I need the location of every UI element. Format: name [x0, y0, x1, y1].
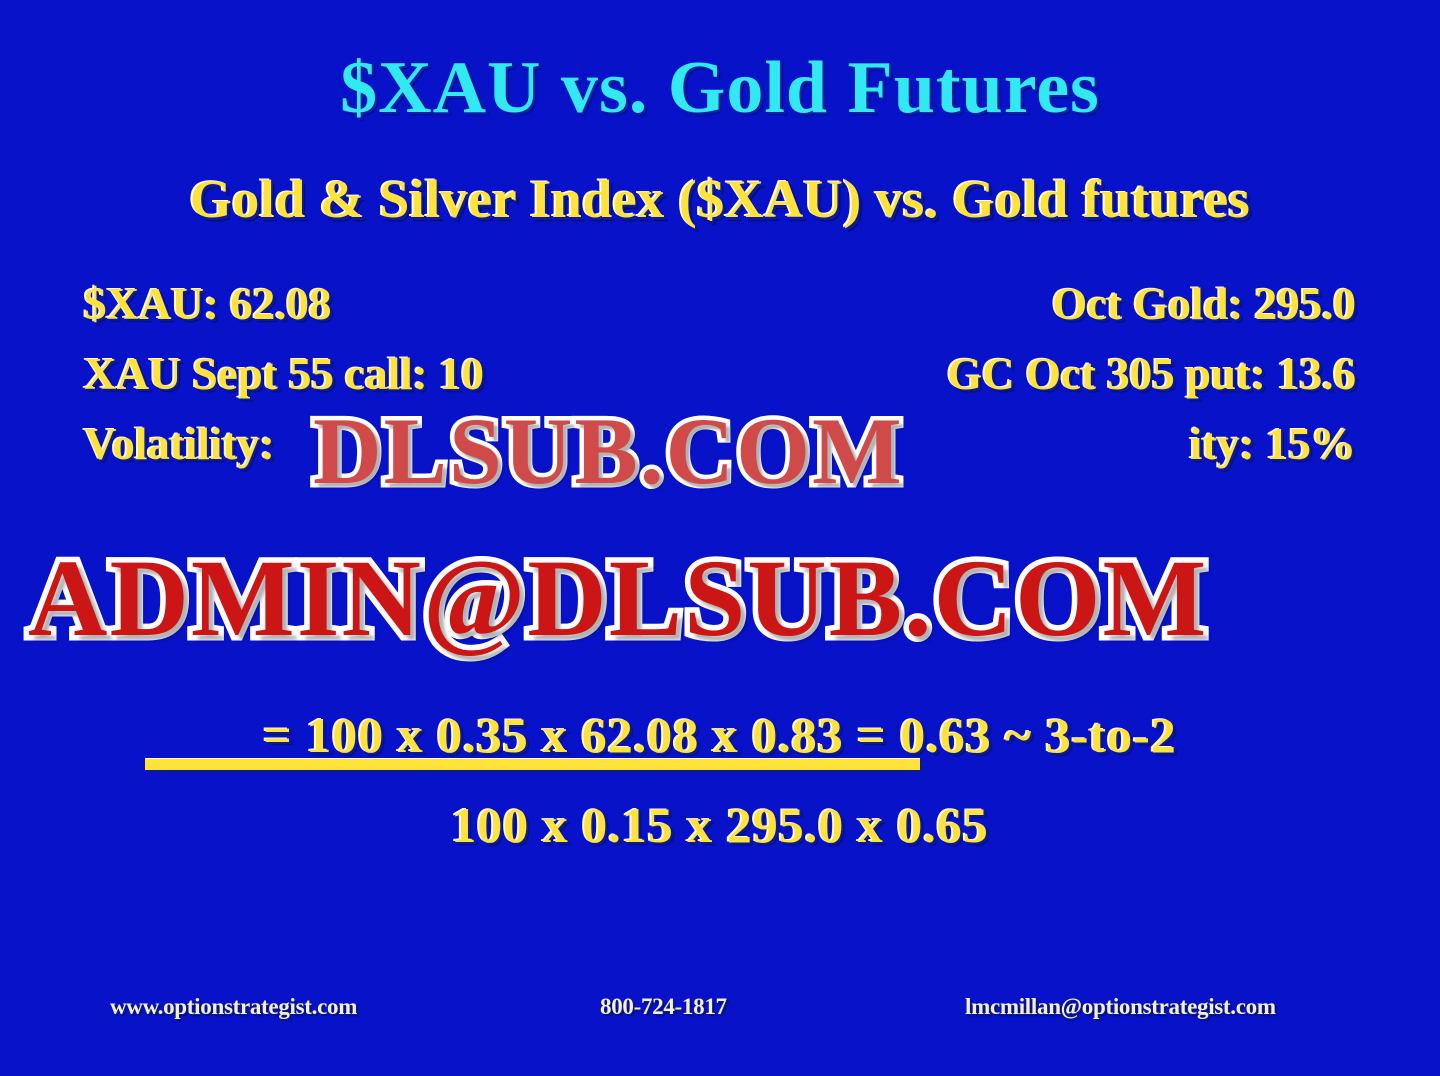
- data-row: $XAU: 62.08 Oct Gold: 295.0: [84, 278, 1356, 348]
- gold-price-label: Oct Gold: 295.0: [1052, 278, 1356, 330]
- footer-email[interactable]: lmcmillan@optionstrategist.com: [965, 994, 1276, 1020]
- xau-volatility-label: Volatility:: [84, 418, 275, 470]
- formula-numerator: = 100 x 0.35 x 62.08 x 0.83 = 0.63 ~ 3-t…: [0, 706, 1440, 764]
- watermark-dlsub: DLSUB.COM: [313, 396, 904, 506]
- footer-phone: 800-724-1817: [600, 994, 727, 1020]
- presentation-slide: $XAU vs. Gold Futures Gold & Silver Inde…: [0, 0, 1440, 1076]
- footer-website[interactable]: www.optionstrategist.com: [110, 994, 357, 1020]
- hedge-ratio-formula: = 100 x 0.35 x 62.08 x 0.83 = 0.63 ~ 3-t…: [0, 706, 1440, 854]
- slide-subtitle: Gold & Silver Index ($XAU) vs. Gold futu…: [0, 168, 1440, 230]
- gold-volatility-label: ity: 15%: [1190, 418, 1356, 470]
- slide-footer: www.optionstrategist.com 800-724-1817 lm…: [0, 994, 1440, 1024]
- xau-call-label: XAU Sept 55 call: 10: [84, 348, 484, 400]
- watermark-admin-dlsub: ADMIN@DLSUB.COM: [28, 535, 1208, 662]
- gc-put-label: GC Oct 305 put: 13.6: [947, 348, 1356, 400]
- fraction-bar: [145, 758, 920, 770]
- slide-title: $XAU vs. Gold Futures: [0, 46, 1440, 131]
- formula-denominator: 100 x 0.15 x 295.0 x 0.65: [0, 796, 1440, 854]
- xau-price-label: $XAU: 62.08: [84, 278, 331, 330]
